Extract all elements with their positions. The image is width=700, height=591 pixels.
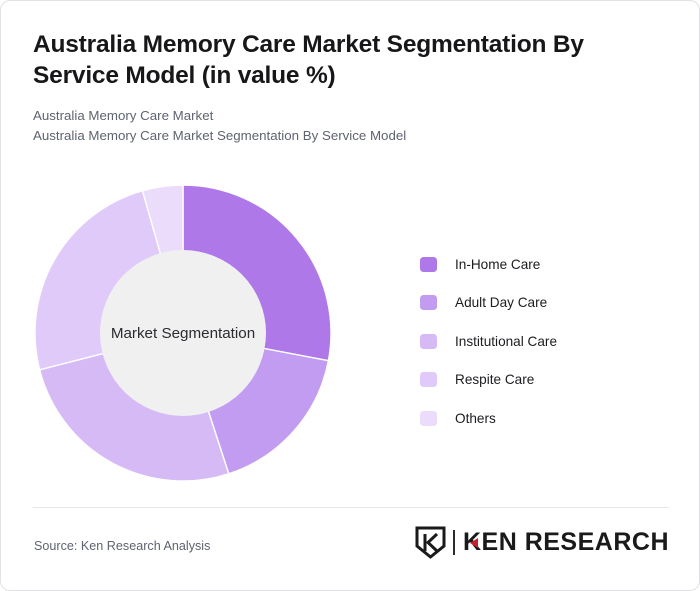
legend-swatch [420, 411, 437, 426]
chart-header: Australia Memory Care Market Segmentatio… [33, 29, 643, 146]
ken-research-shield-icon [415, 526, 446, 559]
legend-swatch [420, 257, 437, 272]
chart-legend: In-Home CareAdult Day CareInstitutional … [420, 245, 670, 438]
chart-plot-area: Market Segmentation In-Home CareAdult Da… [1, 169, 700, 499]
donut-svg [33, 183, 333, 483]
legend-label: Others [455, 411, 496, 426]
legend-label: Respite Care [455, 372, 534, 387]
footer-divider [33, 507, 669, 508]
legend-item[interactable]: In-Home Care [420, 245, 670, 284]
legend-swatch [420, 295, 437, 310]
legend-label: Adult Day Care [455, 295, 547, 310]
donut-center-hole [100, 250, 266, 416]
legend-item[interactable]: Institutional Care [420, 322, 670, 361]
logo-wordmark-text: KEN RESEARCH [463, 528, 669, 556]
legend-item[interactable]: Respite Care [420, 361, 670, 400]
subtitle-line-segmentation: Australia Memory Care Market Segmentatio… [33, 126, 643, 146]
legend-item[interactable]: Others [420, 399, 670, 438]
page-title: Australia Memory Care Market Segmentatio… [33, 29, 643, 92]
ken-research-logo: KEN RESEARCH [415, 525, 669, 559]
legend-swatch [420, 334, 437, 349]
legend-label: In-Home Care [455, 257, 540, 272]
legend-label: Institutional Care [455, 334, 557, 349]
donut-chart: Market Segmentation [33, 183, 333, 483]
breadcrumb: Australia Memory Care Market Australia M… [33, 106, 643, 146]
chart-card: Australia Memory Care Market Segmentatio… [0, 0, 700, 591]
logo-wordmark: KEN RESEARCH [463, 530, 669, 555]
legend-item[interactable]: Adult Day Care [420, 284, 670, 323]
subtitle-line-market: Australia Memory Care Market [33, 106, 643, 126]
logo-divider [453, 530, 455, 555]
source-note: Source: Ken Research Analysis [34, 539, 210, 553]
logo-triangle-accent [470, 538, 478, 548]
legend-swatch [420, 372, 437, 387]
